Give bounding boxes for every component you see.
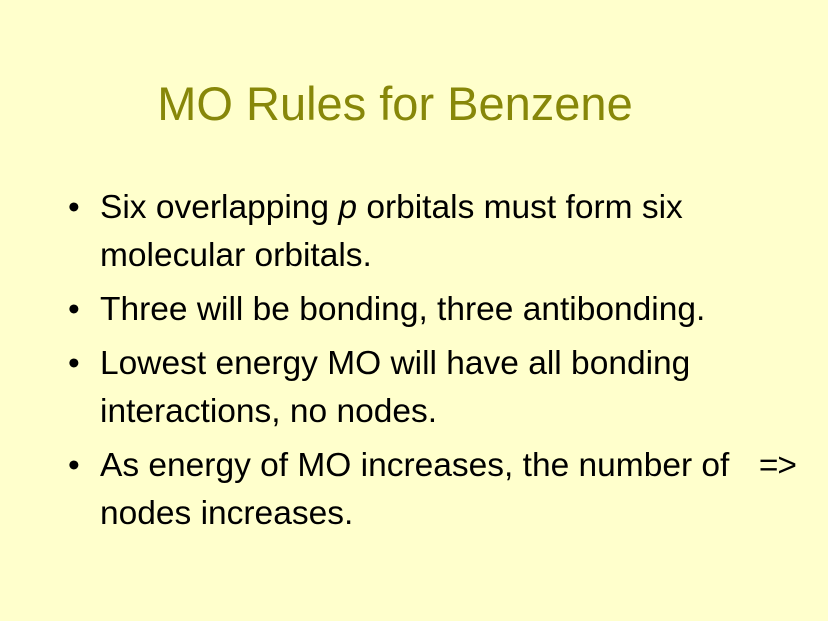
bullet-1-text-before-italic: Six overlapping [100, 189, 338, 226]
list-item-text: Lowest energy MO will have all bonding i… [100, 340, 797, 436]
bullet-point-icon: • [68, 286, 88, 334]
list-item: • As energy of MO increases, the number … [62, 442, 797, 538]
bullet-point-icon: • [68, 340, 88, 388]
continue-arrow-marker: => [759, 442, 796, 490]
list-item-text: Three will be bonding, three antibonding… [100, 286, 797, 334]
list-item: • Six overlapping p orbitals must form s… [62, 184, 797, 280]
bullet-1-italic-term: p [338, 189, 357, 226]
list-item-text: Six overlapping p orbitals must form six… [100, 184, 797, 280]
list-item: • Three will be bonding, three antibondi… [62, 286, 797, 334]
presentation-slide: MO Rules for Benzene • Six overlapping p… [0, 0, 828, 621]
bullet-4-row: As energy of MO increases, the number of… [100, 442, 796, 538]
list-item: • Lowest energy MO will have all bonding… [62, 340, 797, 436]
bullet-4-main-text: As energy of MO increases, the number of… [100, 442, 759, 538]
list-item-text: As energy of MO increases, the number of… [100, 442, 797, 538]
bullet-point-icon: • [68, 442, 88, 490]
bullet-list: • Six overlapping p orbitals must form s… [62, 184, 797, 538]
page-title: MO Rules for Benzene [0, 76, 790, 132]
bullet-point-icon: • [68, 184, 88, 232]
